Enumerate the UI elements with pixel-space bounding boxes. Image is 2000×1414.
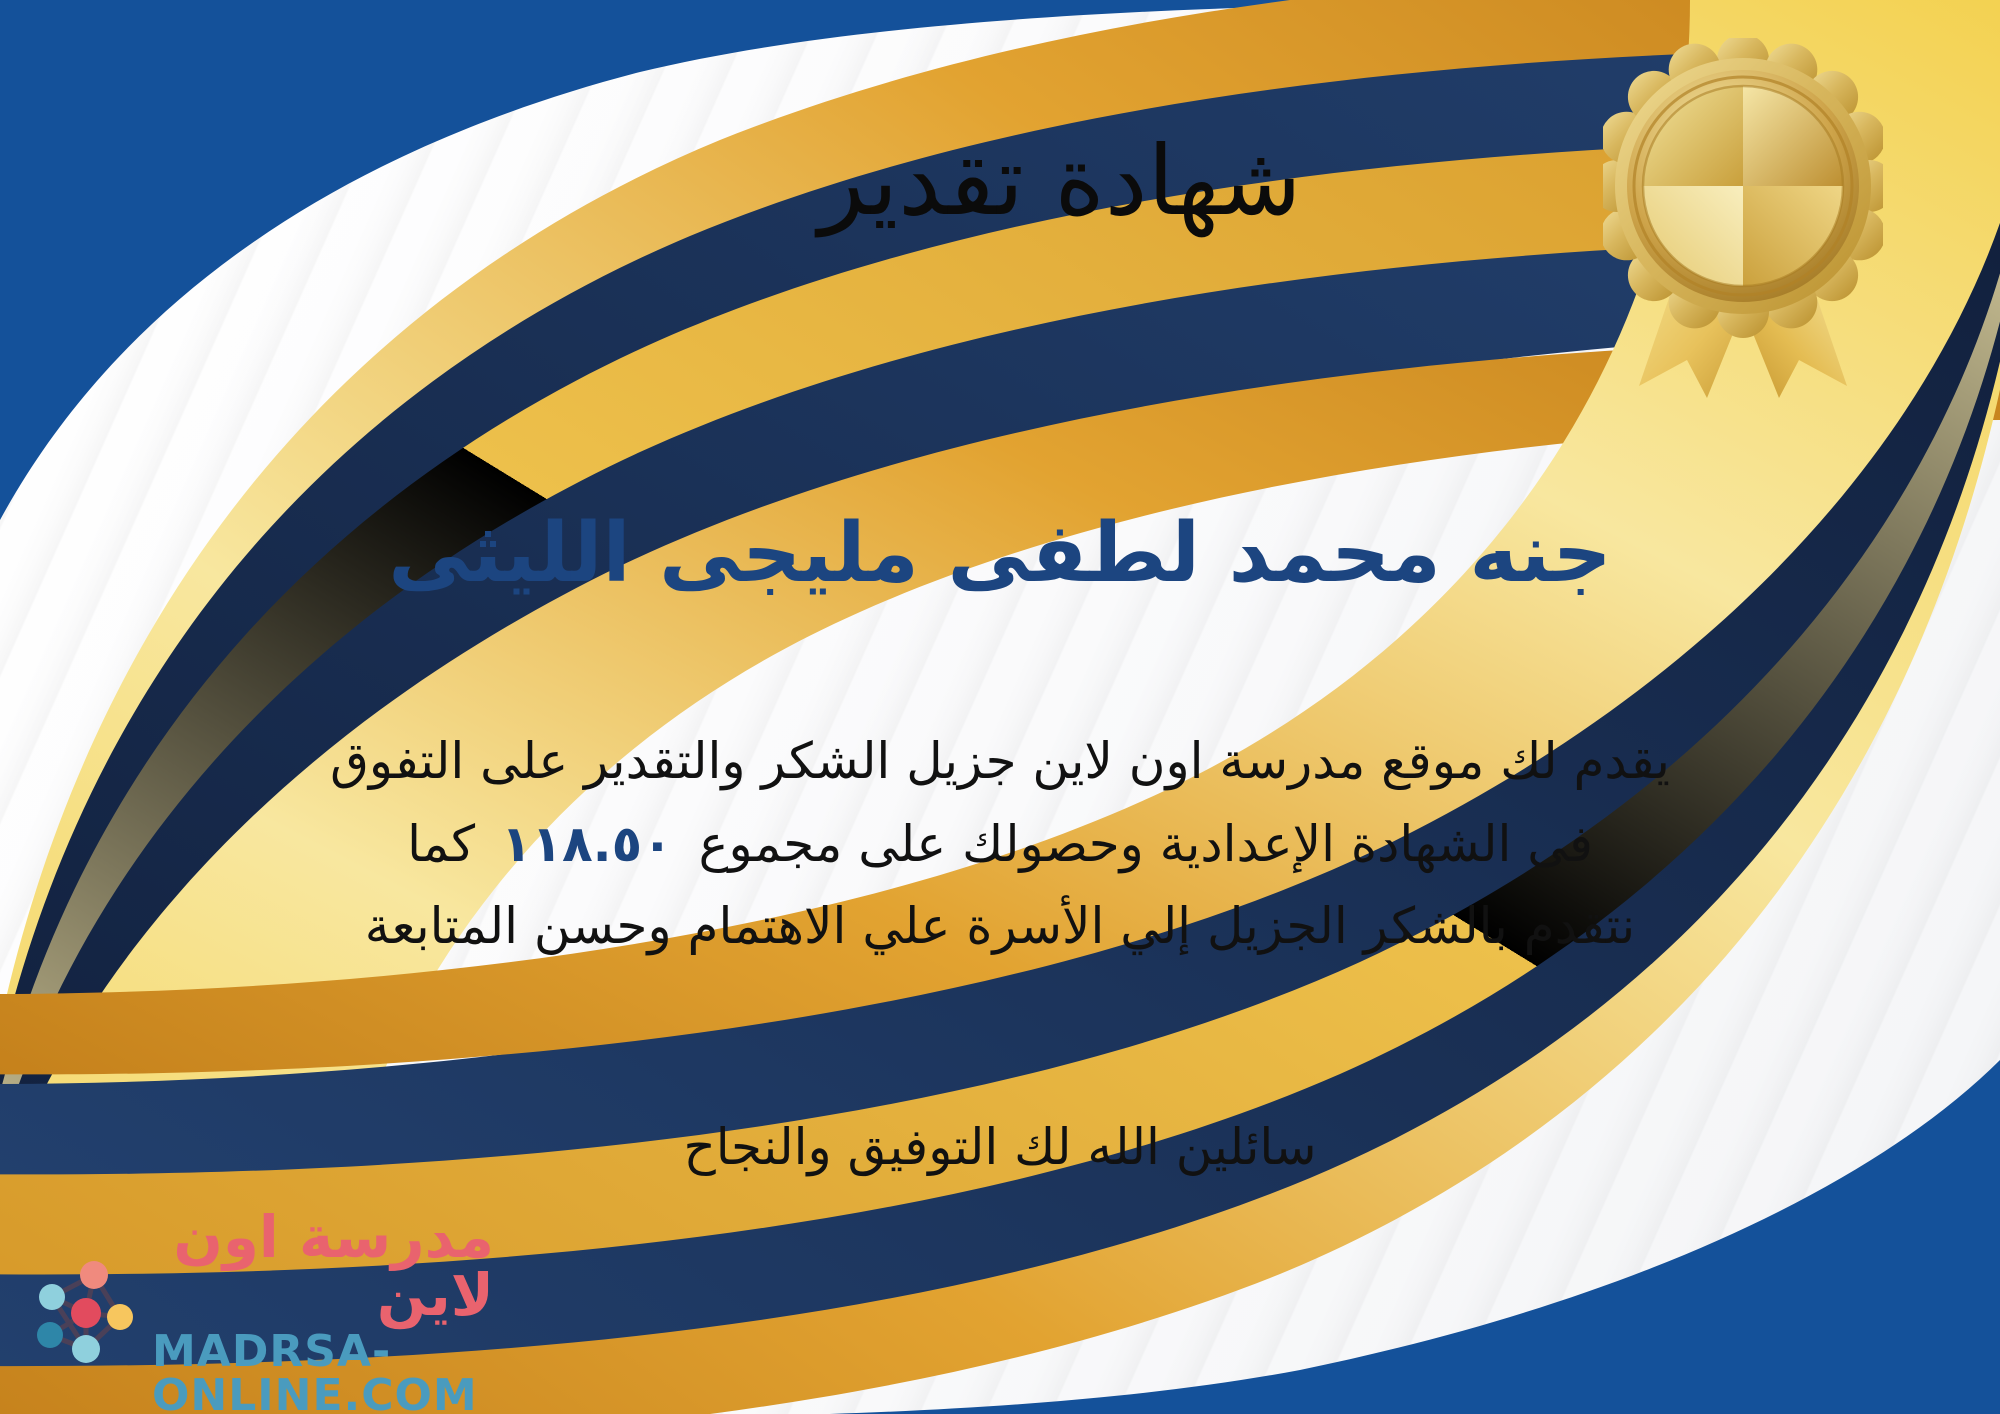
recipient-name: جنه محمد لطفى مليجى الليثى xyxy=(0,505,2000,603)
logo-website: MADRSA-ONLINE.COM xyxy=(152,1330,494,1414)
certificate-body: يقدم لك موقع مدرسة اون لاين جزيل الشكر و… xyxy=(60,720,1940,968)
node-light-blue xyxy=(39,1284,65,1310)
body-line-2: فى الشهادة الإعدادية وحصولك على مجموع١١٨… xyxy=(60,803,1940,886)
node-yellow xyxy=(107,1304,133,1330)
certificate-title: شهادة تقدير xyxy=(0,126,2000,236)
body-line-2-suffix: كما xyxy=(407,815,475,873)
network-nodes-icon xyxy=(24,1253,144,1373)
grade-value: ١١٨.٥٠ xyxy=(475,815,699,873)
node-salmon xyxy=(80,1261,108,1289)
logo-text: مدرسة اون لاين MADRSA-ONLINE.COM xyxy=(152,1208,494,1414)
body-line-3: نتقدم بالشكر الجزيل إلي الأسرة علي الاهت… xyxy=(60,885,1940,968)
body-line-2-prefix: فى الشهادة الإعدادية وحصولك على مجموع xyxy=(699,815,1593,873)
closing-wish: سائلين الله لك التوفيق والنجاح xyxy=(0,1118,2000,1176)
node-red xyxy=(71,1298,101,1328)
node-sky xyxy=(72,1335,100,1363)
node-dark-teal xyxy=(37,1322,63,1348)
body-line-1: يقدم لك موقع مدرسة اون لاين جزيل الشكر و… xyxy=(60,720,1940,803)
certificate: شهادة تقدير جنه محمد لطفى مليجى الليثى ي… xyxy=(0,0,2000,1414)
site-logo[interactable]: مدرسة اون لاين MADRSA-ONLINE.COM xyxy=(24,1238,494,1388)
logo-arabic-name: مدرسة اون لاين xyxy=(152,1208,494,1324)
